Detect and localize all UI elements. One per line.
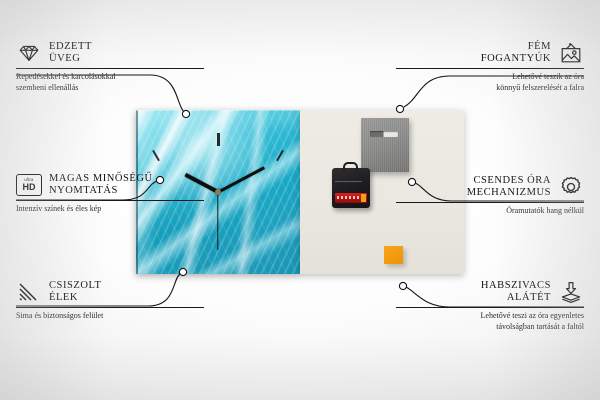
- feature-description: Repedésekkel és karcolásokkal szembeni e…: [16, 72, 204, 93]
- feature-title-line1: HABSZIVACS: [481, 280, 551, 293]
- feature-polished-edges[interactable]: CSISZOLT ÉLEK Sima és biztonságos felüle…: [16, 279, 204, 322]
- infographic-canvas: EDZETT ÜVEG Repedésekkel és karcolásokka…: [0, 0, 600, 400]
- feature-description: Lehetővé teszi az óra egyenletes távolsá…: [396, 311, 584, 332]
- feature-desc-line1: Sima és biztonságos felület: [16, 311, 204, 322]
- feature-title: CSISZOLT ÉLEK: [49, 280, 101, 305]
- battery-terminal: [361, 194, 366, 202]
- feature-divider: [16, 307, 204, 308]
- feature-title-line2: NYOMTATÁS: [49, 185, 153, 198]
- metal-hanger-plate: [361, 118, 409, 172]
- feature-description: Sima és biztonságos felület: [16, 311, 204, 322]
- feature-title-line1: MAGAS MINŐSÉGŰ: [49, 173, 153, 186]
- feature-tempered-glass[interactable]: EDZETT ÜVEG Repedésekkel és karcolásokka…: [16, 40, 204, 93]
- feature-title-line2: ÉLEK: [49, 292, 101, 305]
- foam-pad: [384, 246, 403, 264]
- feature-header: HABSZIVACS ALÁTÉT: [396, 279, 584, 305]
- hanging-frame-icon: [558, 40, 584, 66]
- feature-header: EDZETT ÜVEG: [16, 40, 204, 66]
- feature-desc-line2: távolságban tartását a faltól: [396, 322, 584, 333]
- feature-divider: [396, 68, 584, 69]
- hanger-loop: [343, 162, 358, 170]
- feature-title: MAGAS MINŐSÉGŰ NYOMTATÁS: [49, 173, 153, 198]
- feature-title: HABSZIVACS ALÁTÉT: [481, 280, 551, 305]
- hanger-slot: [370, 131, 398, 137]
- feature-description: Intenzív színek és éles kép: [16, 204, 204, 215]
- feature-divider: [396, 202, 584, 203]
- feature-title-line1: EDZETT: [49, 41, 92, 54]
- feature-header: ultra HD MAGAS MINŐSÉGŰ NYOMTATÁS: [16, 172, 204, 198]
- feature-foam-pad[interactable]: HABSZIVACS ALÁTÉT Lehetővé teszi az óra …: [396, 279, 584, 332]
- feature-title: FÉM FOGANTYÚK: [481, 41, 551, 66]
- feature-title-line2: FOGANTYÚK: [481, 53, 551, 66]
- feature-desc-line1: Lehetővé teszi az óra egyenletes: [396, 311, 584, 322]
- clock-mechanism-box: [332, 168, 370, 208]
- feature-title-line2: MECHANIZMUS: [467, 187, 551, 200]
- feature-title-line1: CSENDES ÓRA: [467, 175, 551, 188]
- feature-header: FÉM FOGANTYÚK: [396, 40, 584, 66]
- clock-hand-cap: [215, 189, 221, 195]
- feature-header: CSISZOLT ÉLEK: [16, 279, 204, 305]
- feature-title-line1: CSISZOLT: [49, 280, 101, 293]
- feature-desc-line1: Intenzív színek és éles kép: [16, 204, 204, 215]
- polished-edges-icon: [16, 279, 42, 305]
- mechanism-seam: [335, 181, 362, 182]
- feature-header: CSENDES ÓRA MECHANIZMUS: [396, 174, 584, 200]
- feature-title-line2: ALÁTÉT: [481, 292, 551, 305]
- feature-quiet-mechanism[interactable]: CSENDES ÓRA MECHANIZMUS Óramutatók hang …: [396, 174, 584, 217]
- feature-title-line2: ÜVEG: [49, 53, 92, 66]
- feature-desc-line1: Repedésekkel és karcolásokkal: [16, 72, 204, 83]
- ultra-hd-badge-icon: ultra HD: [16, 172, 42, 198]
- feature-desc-line2: könnyű felszerelését a falra: [396, 83, 584, 94]
- feature-title-line1: FÉM: [481, 41, 551, 54]
- diamond-icon: [16, 40, 42, 66]
- feature-desc-line2: szembeni ellenállás: [16, 83, 204, 94]
- gear-icon: [558, 174, 584, 200]
- feature-divider: [396, 307, 584, 308]
- feature-description: Lehetővé teszik az óra könnyű felszerelé…: [396, 72, 584, 93]
- feature-divider: [16, 200, 204, 201]
- feature-desc-line1: Lehetővé teszik az óra: [396, 72, 584, 83]
- feature-description: Óramutatók hang nélkül: [396, 206, 584, 217]
- battery: [335, 193, 367, 203]
- tick-12: [217, 133, 220, 146]
- feature-desc-line1: Óramutatók hang nélkül: [396, 206, 584, 217]
- feature-high-quality-print[interactable]: ultra HD MAGAS MINŐSÉGŰ NYOMTATÁS Intenz…: [16, 172, 204, 215]
- feature-title: EDZETT ÜVEG: [49, 41, 92, 66]
- feature-divider: [16, 68, 204, 69]
- hd-badge-hd-text: HD: [23, 183, 36, 192]
- feature-title: CSENDES ÓRA MECHANIZMUS: [467, 175, 551, 200]
- feature-metal-handles[interactable]: FÉM FOGANTYÚK Lehetővé teszik az óra kön…: [396, 40, 584, 93]
- battery-label: [337, 196, 359, 199]
- press-down-layers-icon: [558, 279, 584, 305]
